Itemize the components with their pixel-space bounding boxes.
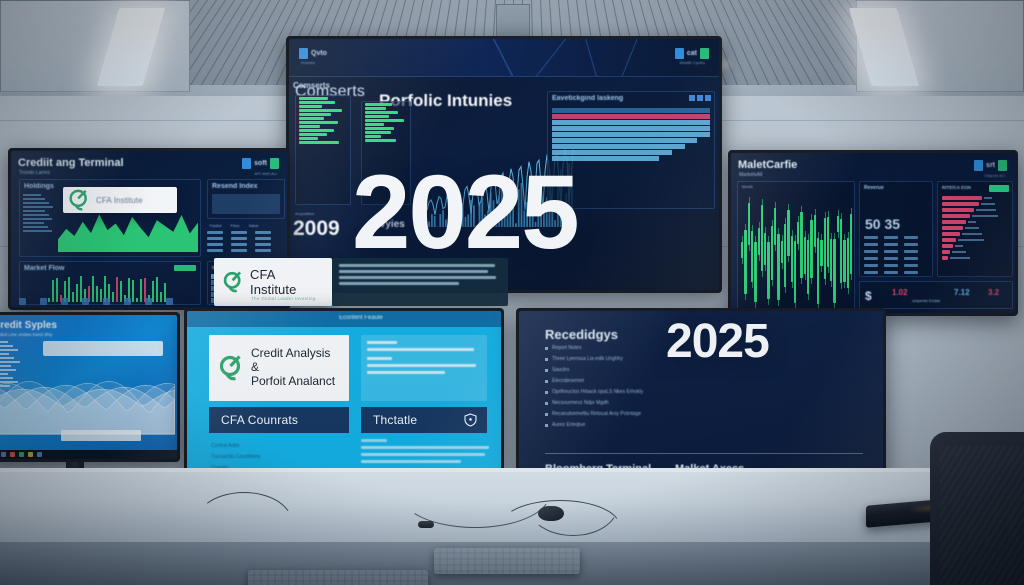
- lwm-stat-label-1: Price: [231, 223, 240, 228]
- lwm-index-sparkline: [212, 194, 280, 214]
- candlestick-wick: [805, 231, 806, 280]
- bar-item: [365, 115, 389, 118]
- bar-row: [942, 214, 1008, 218]
- candlestick-wick: [828, 211, 829, 273]
- rwm-footer-val-1: 7.12: [954, 288, 970, 297]
- cfa-logo-icon: [219, 355, 243, 381]
- lwm-green-area-chart: [58, 210, 198, 252]
- cfa-card-tagline: The Global Leader Investing: [251, 296, 316, 301]
- fglm-footer-button[interactable]: [61, 430, 141, 441]
- lwm-brand: soft: [242, 158, 279, 169]
- stat-value: [904, 250, 918, 253]
- cfa-logo-icon: [69, 189, 89, 211]
- rc-heading: Recedidgys: [545, 327, 618, 342]
- bar-label: [955, 245, 963, 247]
- cable-dongle: [418, 521, 434, 528]
- bar-item: [942, 214, 970, 218]
- cfa-card-left-label: CFA Institute: [96, 196, 143, 205]
- bullet-icon: [545, 424, 548, 427]
- candlestick-wick: [782, 235, 783, 268]
- wall-brand-right-sub: Wealth Cycles: [680, 60, 706, 65]
- keyboard-right[interactable]: [434, 548, 580, 574]
- list-item: [23, 210, 45, 212]
- candlestick-wick: [772, 220, 773, 286]
- table-row: [552, 120, 710, 125]
- right-wall-monitor[interactable]: MaletCarfie MarketsAll srt Objects ALI M…: [728, 150, 1018, 316]
- brand-square-green-icon: [270, 158, 279, 169]
- stat-value: [884, 257, 898, 260]
- bar-label: [952, 251, 966, 253]
- wall-year-2009: 2009: [293, 217, 340, 241]
- bar-item: [299, 109, 342, 112]
- wall-comserts-label: Comserts: [293, 81, 330, 90]
- stat-value: [207, 249, 223, 252]
- fglm-title: Credit Syples: [0, 320, 57, 331]
- bar-row: [942, 232, 1008, 236]
- bar-item: [942, 226, 963, 230]
- bar-item: [365, 135, 381, 138]
- stat-value: [904, 243, 918, 246]
- rwm-footer-label: ourpents S1dde: [912, 298, 940, 303]
- cm-link-0[interactable]: Contral Adds: [211, 441, 261, 452]
- bar-label: [965, 227, 979, 229]
- lwm-status-badge: [174, 265, 196, 271]
- brand-square-icon: [974, 160, 983, 171]
- bar-row: [942, 202, 1008, 206]
- keyboard-left[interactable]: [248, 570, 428, 585]
- rwm-brand-label: srt: [986, 162, 995, 169]
- stat-value: [864, 236, 878, 239]
- bar-label: [984, 197, 992, 199]
- candlestick-wick: [841, 213, 842, 289]
- bar-label: [968, 221, 976, 223]
- candlestick-wick: [825, 212, 826, 284]
- bar-row: [942, 226, 1008, 230]
- candlestick-wick: [778, 228, 779, 305]
- bar-label: [950, 257, 970, 259]
- bar-item: [299, 141, 339, 144]
- candlestick-wick: [775, 202, 776, 251]
- cm-bullet-panel: [361, 335, 487, 401]
- cm-nav-right[interactable]: Thctatle: [361, 407, 487, 433]
- candlestick-wick: [798, 216, 799, 249]
- list-item: Elecratesemet: [545, 378, 715, 384]
- office-chair: [930, 432, 1024, 585]
- bar-row: [942, 196, 1008, 200]
- bar-item: [365, 111, 398, 114]
- stat-value: [904, 257, 918, 260]
- bar-item: [365, 119, 404, 122]
- taskbar-app-icon[interactable]: [19, 452, 24, 457]
- tab-icon[interactable]: [40, 298, 47, 305]
- bar-label: [972, 215, 998, 217]
- taskbar-search-icon[interactable]: [1, 452, 6, 457]
- rwm-mid-title: Reverue: [860, 182, 932, 194]
- lwm-sidebar-rows: [23, 194, 53, 234]
- rwm-footer-val-0: 1.02: [892, 288, 908, 297]
- bar-item: [942, 250, 950, 254]
- fglm-wave-chart: [0, 357, 175, 435]
- tab-icon[interactable]: [124, 298, 131, 305]
- candlestick-wick: [851, 208, 852, 280]
- stat-value: [864, 250, 878, 253]
- candlestick-wick: [752, 225, 753, 287]
- rwm-brand: srt: [974, 160, 1007, 171]
- bar-row: [942, 208, 1008, 212]
- rwm-candle-chart: [741, 190, 851, 302]
- bar-item: [365, 127, 394, 130]
- stat-value: [231, 231, 247, 234]
- wall-brand-left: Qvto: [299, 48, 327, 59]
- window-close-icon[interactable]: [705, 95, 711, 101]
- candlestick-wick: [759, 222, 760, 261]
- wall-green-bar-chart-a: [295, 95, 351, 205]
- mouse[interactable]: [538, 506, 564, 521]
- bullet-icon: [545, 347, 548, 350]
- bullet-icon: [545, 402, 548, 405]
- brand-square-icon: [675, 48, 684, 59]
- candlestick-wick: [818, 232, 819, 310]
- candlestick-wick: [844, 234, 845, 288]
- rc-bullet-6: Recanutsemeltiu Rirtoual Arsy Pckntage: [552, 411, 641, 417]
- tab-icon[interactable]: [19, 298, 26, 305]
- window-minimize-icon[interactable]: [689, 95, 695, 101]
- brand-square-icon: [299, 48, 308, 59]
- list-item: Oprthnuctos Hrback opaLS Nkes Erhokly: [545, 389, 715, 395]
- bar-label: [981, 203, 995, 205]
- bar-label: [976, 209, 996, 211]
- rwm-pink-bar-chart: [942, 196, 1008, 262]
- lwm-brand-sub: API Web ALI: [254, 171, 277, 176]
- stat-value: [231, 237, 247, 240]
- list-item[interactable]: [0, 345, 13, 347]
- year-overlay-main: 2025: [352, 160, 578, 265]
- cfa-institute-card-left: CFA Institute: [63, 187, 177, 213]
- candlestick-wick: [792, 230, 793, 288]
- rwm-stats-panel: Reverue 50 35: [859, 181, 933, 277]
- rwm-currency-icon: $: [865, 289, 872, 303]
- bar-item: [299, 101, 335, 104]
- stat-value: [904, 264, 918, 267]
- fglm-subtitle: Traded Line undaw trand dhiy: [0, 332, 52, 337]
- bar-row: [942, 244, 1008, 248]
- candlestick-wick: [811, 214, 812, 283]
- bar-item: [365, 123, 384, 126]
- taskbar-app-icon[interactable]: [37, 452, 42, 457]
- taskbar-app-icon[interactable]: [28, 452, 33, 457]
- desk-edge: [0, 468, 1024, 472]
- bar-item: [365, 139, 396, 142]
- list-item[interactable]: [0, 353, 9, 355]
- wall-year-caption: Acquisition: [295, 211, 314, 216]
- lwm-tab-icons[interactable]: [19, 298, 173, 305]
- rc-divider: [545, 453, 863, 454]
- candlestick-wick: [795, 235, 796, 309]
- stat-value: [207, 237, 223, 240]
- bar-item: [299, 137, 318, 140]
- list-item: Aurez Erteqtue: [545, 422, 715, 428]
- rc-bullet-3: Elecratesemet: [552, 378, 584, 384]
- lwm-subtitle: Tronds Larres: [19, 170, 50, 176]
- rwm-mid-bignum: 50 35: [865, 216, 900, 232]
- cfa-institute-card-floating: CFA Institute The Global Leader Investin…: [214, 258, 332, 306]
- list-item[interactable]: [0, 349, 18, 351]
- wall-brand-right-label: cat: [687, 50, 697, 57]
- table-row: [552, 144, 685, 149]
- stat-value: [884, 250, 898, 253]
- stat-value: [864, 264, 878, 267]
- tab-icon[interactable]: [166, 298, 173, 305]
- lwm-stat-label-2: Value: [249, 223, 259, 228]
- candlestick-wick: [834, 233, 835, 309]
- cm-link-1[interactable]: Transactio Countitions: [211, 452, 261, 463]
- stat-value: [884, 236, 898, 239]
- bullet-icon: [545, 380, 548, 383]
- stat-value: [207, 231, 223, 234]
- wall-display-topbar: Qvto Investor cat Wealth Cycles: [289, 39, 719, 77]
- candlestick-wick: [755, 236, 756, 308]
- brand-square-green-icon: [998, 160, 1007, 171]
- rc-bullet-0: Report Notes: [552, 345, 581, 351]
- list-item: [23, 218, 52, 220]
- lwm-title: Crediit ang Terminal: [18, 157, 124, 169]
- tab-icon[interactable]: [82, 298, 89, 305]
- stat-value: [255, 249, 271, 252]
- rwm-funnel-badge: [989, 185, 1009, 192]
- candlestick-wick: [785, 218, 786, 292]
- wall-brand-right: cat: [675, 48, 709, 59]
- bar-item: [365, 103, 392, 106]
- candlestick-wick: [765, 227, 766, 271]
- bar-item: [942, 202, 979, 206]
- candlestick-wick: [821, 234, 822, 273]
- list-item: Necsourmevz Ndpr Mgdh: [545, 400, 715, 406]
- cfa-logo-icon: [223, 271, 243, 293]
- list-item: [23, 222, 44, 224]
- bullet-icon: [545, 391, 548, 394]
- candlestick-wick: [815, 209, 816, 253]
- candlestick-wick: [768, 236, 769, 305]
- list-item: [23, 214, 49, 216]
- rwm-subtitle: MarketsAll: [739, 172, 762, 178]
- rwm-funnel-panel: RITE/CA EON: [937, 181, 1013, 277]
- bullet-icon: [545, 369, 548, 372]
- list-item: [23, 230, 52, 232]
- lwm-panel-b-title: Resend Index: [208, 180, 284, 193]
- brand-square-icon: [242, 158, 251, 169]
- rwm-footer-val-2: 3.2: [988, 288, 999, 297]
- year-overlay-secondary: 2025: [666, 318, 769, 366]
- rc-bullet-7: Aurez Erteqtue: [552, 422, 585, 428]
- bar-item: [299, 129, 334, 132]
- brand-square-green-icon: [700, 48, 709, 59]
- stat-value: [884, 264, 898, 267]
- cm-body-text: [361, 439, 493, 467]
- candlestick-wick: [848, 232, 849, 294]
- bar-item: [299, 105, 322, 108]
- stat-value: [255, 243, 271, 246]
- cm-title-line1: Credit Analysis &: [251, 347, 339, 375]
- stat-value: [231, 249, 247, 252]
- list-item[interactable]: [0, 341, 8, 343]
- cm-title-line2: Porfoit Analanct: [251, 375, 339, 389]
- rwm-brand-sub: Objects ALI: [985, 173, 1005, 178]
- rwm-title: MaletCarfie: [738, 159, 797, 171]
- bar-item: [299, 113, 331, 116]
- stat-value: [255, 237, 271, 240]
- stat-value: [864, 257, 878, 260]
- window-maximize-icon[interactable]: [697, 95, 703, 101]
- list-item: [23, 202, 49, 204]
- table-row: [552, 126, 710, 131]
- bar-row: [942, 238, 1008, 242]
- wall-brand-left-sub: Investor: [301, 60, 315, 65]
- candlestick-wick: [788, 204, 789, 262]
- bar-item: [942, 256, 948, 260]
- candlestick-wick: [808, 234, 809, 300]
- fg-left-screen: Credit Syples Traded Line undaw trand dh…: [0, 315, 177, 459]
- rc-bullet-2: Sauctro: [552, 367, 569, 373]
- list-item: Recanutsemeltiu Rirtoual Arsy Pckntage: [545, 411, 715, 417]
- bar-item: [942, 220, 966, 224]
- candlestick-wick: [831, 233, 832, 287]
- right-wall-screen: MaletCarfie MarketsAll srt Objects ALI M…: [731, 153, 1015, 313]
- stat-value: [864, 243, 878, 246]
- candlestick-wick: [742, 236, 743, 264]
- lwm-brand-label: soft: [254, 160, 267, 167]
- bar-item: [365, 107, 386, 110]
- foreground-left-monitor[interactable]: Credit Syples Traded Line undaw trand dh…: [0, 312, 180, 462]
- table-row: [552, 108, 710, 113]
- candlestick-wick: [745, 224, 746, 300]
- bar-item: [942, 208, 974, 212]
- cm-title-card: Credit Analysis & Porfoit Analanct: [209, 335, 349, 401]
- network-graphic: [289, 39, 719, 76]
- bullet-icon: [545, 413, 548, 416]
- wall-brand-left-label: Qvto: [311, 50, 327, 57]
- bullet-icon: [545, 358, 548, 361]
- bar-row: [942, 256, 1008, 260]
- bar-item: [299, 97, 328, 100]
- rwm-mid-rows: [864, 236, 928, 278]
- tab-icon[interactable]: [103, 298, 110, 305]
- trading-floor-scene: Qvto Investor cat Wealth Cycles Comserts…: [0, 0, 1024, 585]
- stat-value: [904, 236, 918, 239]
- stat-value: [207, 243, 223, 246]
- lwm-stat-values: [207, 231, 285, 255]
- rwm-footer-panel: $ 1.02 7.12 3.2 ourpents S1dde: [859, 281, 1013, 309]
- bar-item: [299, 133, 327, 136]
- candlestick-wick: [838, 210, 839, 238]
- list-item: [23, 194, 41, 196]
- stat-value: [231, 243, 247, 246]
- lwm-panel-index: Resend Index: [207, 179, 285, 219]
- bar-item: [942, 232, 960, 236]
- bar-row: [942, 250, 1008, 254]
- floating-note-card: [332, 258, 508, 306]
- bar-label: [958, 239, 984, 241]
- rwm-candle-label: Movth: [742, 184, 753, 189]
- list-item: [23, 198, 45, 200]
- cm-nav-left[interactable]: CFA Counrats: [209, 407, 349, 433]
- cm-nav-left-label: CFA Counrats: [221, 413, 298, 427]
- rc-bullet-4: Oprthnuctos Hrback opaLS Nkes Erhokly: [552, 389, 643, 395]
- lwm-stat-row: Traded Price Value: [209, 223, 259, 228]
- list-item: [23, 206, 53, 208]
- fglm-taskbar[interactable]: [0, 450, 177, 459]
- rc-bullet-1: Three Lyerrsua Lia edik Unghhy: [552, 356, 623, 362]
- lwm-stat-label-0: Traded: [209, 223, 222, 228]
- stat-value: [884, 271, 898, 274]
- cfa-card-label: CFA Institute: [250, 267, 323, 297]
- bar-item: [299, 121, 338, 124]
- list-item: [23, 226, 48, 228]
- table-row: [552, 138, 697, 143]
- rwm-candlestick-panel: Movth: [737, 181, 855, 309]
- bar-item: [365, 131, 391, 134]
- stat-value: [904, 271, 918, 274]
- bar-item: [942, 238, 956, 242]
- bar-item: [299, 125, 320, 128]
- table-row: [552, 114, 710, 119]
- candlestick-wick: [801, 206, 802, 283]
- candlestick-wick: [762, 199, 763, 277]
- cm-nav-right-label: Thctatle: [373, 413, 417, 427]
- stat-value: [864, 271, 878, 274]
- cm-section-label: Econtent Feaule: [339, 315, 383, 321]
- rc-bullet-5: Necsourmevz Ndpr Mgdh: [552, 400, 609, 406]
- taskbar-app-icon[interactable]: [10, 452, 15, 457]
- fglm-search-input[interactable]: [43, 341, 163, 356]
- table-row: [552, 132, 710, 137]
- tab-icon[interactable]: [145, 298, 152, 305]
- bar-item: [942, 196, 982, 200]
- bar-row: [942, 220, 1008, 224]
- bar-item: [299, 117, 324, 120]
- tab-icon[interactable]: [61, 298, 68, 305]
- candlestick-wick: [749, 197, 750, 251]
- shield-icon[interactable]: [464, 413, 477, 427]
- stat-value: [255, 231, 271, 234]
- stat-value: [884, 243, 898, 246]
- bar-item: [942, 244, 953, 248]
- bar-label: [962, 233, 982, 235]
